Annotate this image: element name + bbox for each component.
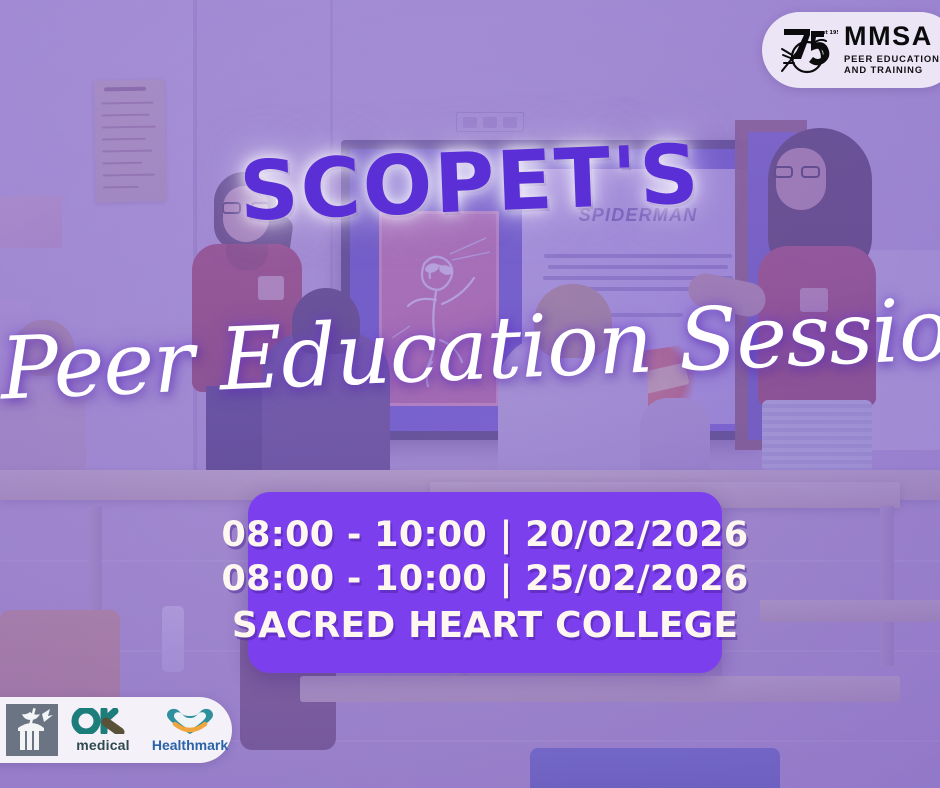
session-datetime-1: 08:00 - 10:00 | 20/02/2026 — [221, 515, 748, 555]
mmsa-subtitle-line1: PEER EDUCATION — [844, 53, 940, 64]
government-emblem-icon — [6, 704, 58, 756]
mmsa-75-anniversary-icon: est 1951 — [780, 25, 838, 75]
sponsor-logo-pill: medical Healthmark — [0, 697, 232, 763]
poster-canvas: SPIDERMAN — [0, 0, 940, 788]
healthmark-label: Healthmark — [152, 737, 228, 753]
mmsa-subtitle-line2: AND TRAINING — [844, 64, 940, 75]
ok-medical-logo: medical — [70, 708, 136, 753]
session-details-box: 08:00 - 10:00 | 20/02/2026 08:00 - 10:00… — [248, 492, 722, 673]
session-datetime-2: 08:00 - 10:00 | 25/02/2026 — [221, 559, 748, 599]
healthmark-heart-icon — [164, 707, 216, 735]
ok-medical-icon — [70, 708, 136, 734]
healthmark-logo: Healthmark — [148, 707, 232, 754]
session-venue: SACRED HEART COLLEGE — [232, 605, 738, 646]
mmsa-org-name: MMSA — [844, 23, 940, 50]
mmsa-logo-pill: est 1951 MMSA PEER EDUCATION AND TRAININ… — [762, 12, 940, 88]
ok-medical-label: medical — [76, 737, 130, 753]
mmsa-org-subtitle: PEER EDUCATION AND TRAINING — [844, 53, 940, 75]
anniversary-est-label: est 1951 — [819, 30, 838, 36]
